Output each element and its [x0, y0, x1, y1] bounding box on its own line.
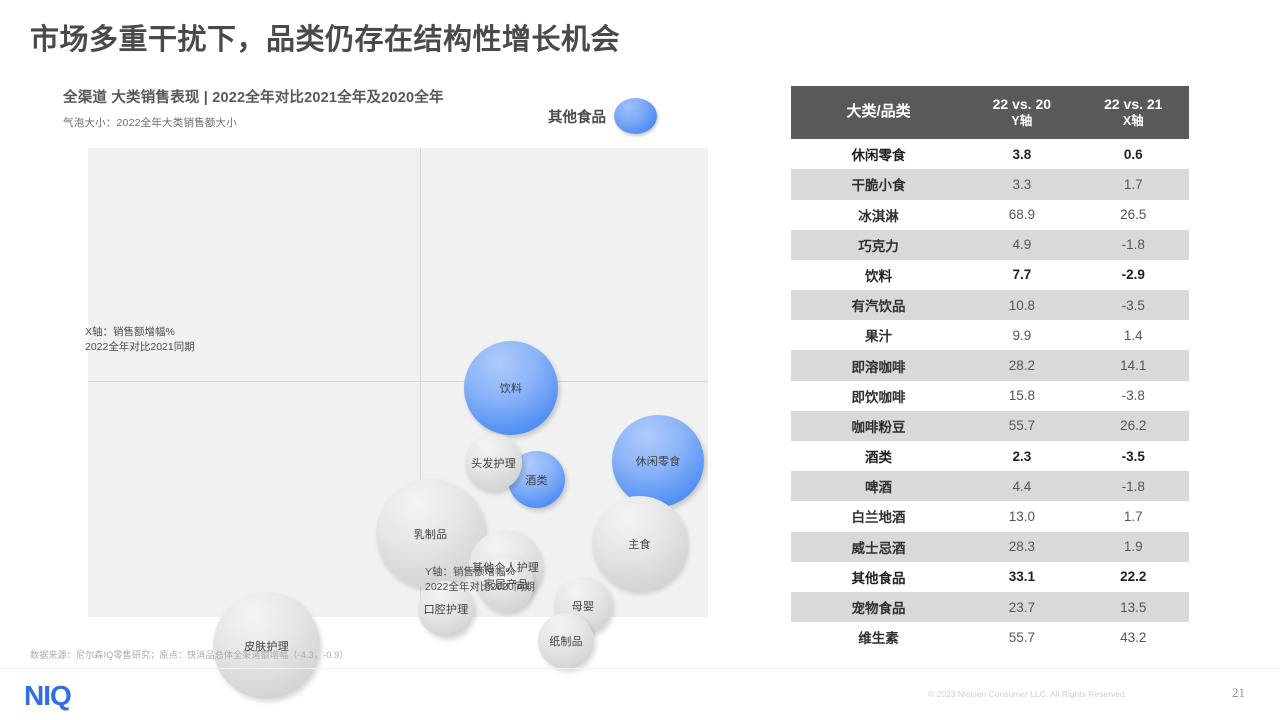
bubble-label: 母婴 [572, 598, 594, 614]
table-row[interactable]: 果汁9.91.4 [791, 320, 1189, 350]
legend-bubble-icon [614, 98, 657, 134]
cell-22vs21: 26.5 [1078, 200, 1189, 230]
cell-22vs20: 3.3 [966, 169, 1077, 199]
cell-category-name: 酒类 [791, 441, 966, 471]
x-axis-note-line2: 2022全年对比2021同期 [85, 340, 195, 355]
chart-footnote: 数据来源：尼尔森IQ零售研究；原点：快消品总体全渠道额增幅（-4.3，-0.9） [30, 648, 349, 661]
cell-category-name: 有汽饮品 [791, 290, 966, 320]
table-row[interactable]: 咖啡粉豆55.726.2 [791, 411, 1189, 441]
table-row[interactable]: 冰淇淋68.926.5 [791, 200, 1189, 230]
table-row[interactable]: 休闲零食3.80.6 [791, 139, 1189, 169]
legend-label: 其他食品 [548, 106, 606, 127]
page-number: 21 [1232, 685, 1245, 701]
cell-22vs20: 28.3 [966, 532, 1077, 562]
cell-22vs21: 0.6 [1078, 139, 1189, 169]
cell-22vs20: 23.7 [966, 592, 1077, 622]
col-header-22vs20-main: 22 vs. 20 [993, 96, 1051, 112]
bubble-纸制品[interactable]: 纸制品 [538, 613, 594, 669]
cell-22vs20: 2.3 [966, 441, 1077, 471]
footer-divider [0, 668, 1280, 669]
bubble-皮肤护理[interactable]: 皮肤护理 [213, 592, 320, 699]
cell-22vs20: 68.9 [966, 200, 1077, 230]
table-row[interactable]: 威士忌酒28.31.9 [791, 532, 1189, 562]
cell-22vs21: -2.9 [1078, 260, 1189, 290]
table-row[interactable]: 酒类2.3-3.5 [791, 441, 1189, 471]
bubble-label: 头发护理 [471, 455, 516, 471]
cell-category-name: 白兰地酒 [791, 501, 966, 531]
cell-category-name: 啤酒 [791, 471, 966, 501]
bubble-label: 其他个人护理 [472, 559, 539, 575]
bubble-饮料[interactable]: 饮料 [464, 341, 558, 435]
cell-22vs21: -1.8 [1078, 230, 1189, 260]
x-axis-note-line1: X轴：销售额增幅% [85, 325, 195, 340]
bubble-label: 主食 [628, 536, 650, 552]
cell-22vs20: 4.4 [966, 471, 1077, 501]
col-header-22vs21: 22 vs. 21 X轴 [1078, 86, 1189, 139]
cell-22vs20: 9.9 [966, 320, 1077, 350]
page-title: 市场多重干扰下，品类仍存在结构性增长机会 [30, 16, 620, 58]
cell-category-name: 即溶咖啡 [791, 350, 966, 380]
copyright-text: © 2023 Nielsen Consumer LLC. All Rights … [928, 689, 1127, 699]
category-table: 大类/品类 22 vs. 20 Y轴 22 vs. 21 X轴 休闲零食3.80… [791, 86, 1189, 652]
col-header-22vs21-main: 22 vs. 21 [1104, 96, 1162, 112]
bubble-chart-plot: 饮料休闲零食酒类头发护理乳制品其他个人护理家居产品口腔护理主食母婴纸制品皮肤护理 [88, 148, 708, 617]
cell-22vs21: 14.1 [1078, 350, 1189, 380]
cell-category-name: 饮料 [791, 260, 966, 290]
cell-22vs21: -1.8 [1078, 471, 1189, 501]
cell-22vs20: 3.8 [966, 139, 1077, 169]
cell-22vs21: 1.4 [1078, 320, 1189, 350]
table-row[interactable]: 即饮咖啡15.8-3.8 [791, 381, 1189, 411]
chart-legend: 其他食品 [548, 98, 657, 134]
table-row[interactable]: 干脆小食3.31.7 [791, 169, 1189, 199]
col-header-22vs20: 22 vs. 20 Y轴 [966, 86, 1077, 139]
table-row[interactable]: 巧克力4.9-1.8 [791, 230, 1189, 260]
table-row[interactable]: 即溶咖啡28.214.1 [791, 350, 1189, 380]
col-header-category: 大类/品类 [791, 86, 966, 139]
slide: 市场多重干扰下，品类仍存在结构性增长机会 全渠道 大类销售表现 | 2022全年… [0, 0, 1280, 720]
cell-22vs20: 10.8 [966, 290, 1077, 320]
cell-category-name: 维生素 [791, 622, 966, 652]
cell-22vs21: 1.9 [1078, 532, 1189, 562]
cell-category-name: 威士忌酒 [791, 532, 966, 562]
cell-22vs20: 15.8 [966, 381, 1077, 411]
cell-22vs21: 26.2 [1078, 411, 1189, 441]
table-row[interactable]: 啤酒4.4-1.8 [791, 471, 1189, 501]
cell-22vs21: 43.2 [1078, 622, 1189, 652]
cell-category-name: 干脆小食 [791, 169, 966, 199]
bubble-label: 酒类 [525, 472, 547, 488]
col-header-22vs20-sub: Y轴 [970, 114, 1073, 130]
cell-category-name: 冰淇淋 [791, 200, 966, 230]
table-row[interactable]: 有汽饮品10.8-3.5 [791, 290, 1189, 320]
cell-22vs20: 4.9 [966, 230, 1077, 260]
cell-category-name: 其他食品 [791, 562, 966, 592]
cell-category-name: 休闲零食 [791, 139, 966, 169]
bubble-label: 纸制品 [549, 633, 583, 649]
table-row[interactable]: 其他食品33.122.2 [791, 562, 1189, 592]
bubble-label: 饮料 [500, 380, 522, 396]
cell-22vs20: 33.1 [966, 562, 1077, 592]
bubble-label: 乳制品 [414, 526, 448, 542]
cell-22vs20: 28.2 [966, 350, 1077, 380]
table-row[interactable]: 饮料7.7-2.9 [791, 260, 1189, 290]
cell-22vs21: 22.2 [1078, 562, 1189, 592]
bubble-主食[interactable]: 主食 [592, 496, 687, 591]
x-axis-note: X轴：销售额增幅% 2022全年对比2021同期 [85, 325, 195, 355]
cell-22vs21: 1.7 [1078, 169, 1189, 199]
cell-22vs21: 1.7 [1078, 501, 1189, 531]
data-table: 大类/品类 22 vs. 20 Y轴 22 vs. 21 X轴 休闲零食3.80… [791, 86, 1189, 652]
cell-22vs21: -3.5 [1078, 441, 1189, 471]
table-body: 休闲零食3.80.6干脆小食3.31.7冰淇淋68.926.5巧克力4.9-1.… [791, 139, 1189, 652]
cell-22vs21: 13.5 [1078, 592, 1189, 622]
cell-22vs20: 13.0 [966, 501, 1077, 531]
bubble-label: 家居产品 [484, 576, 529, 592]
cell-22vs20: 55.7 [966, 411, 1077, 441]
cell-category-name: 咖啡粉豆 [791, 411, 966, 441]
bubble-label: 休闲零食 [636, 453, 681, 469]
quadrant-line-horizontal [88, 381, 708, 382]
col-header-22vs21-sub: X轴 [1082, 114, 1185, 130]
table-header-row: 大类/品类 22 vs. 20 Y轴 22 vs. 21 X轴 [791, 86, 1189, 139]
table-row[interactable]: 维生素55.743.2 [791, 622, 1189, 652]
cell-category-name: 果汁 [791, 320, 966, 350]
cell-22vs20: 7.7 [966, 260, 1077, 290]
table-head: 大类/品类 22 vs. 20 Y轴 22 vs. 21 X轴 [791, 86, 1189, 139]
table-row[interactable]: 宠物食品23.713.5 [791, 592, 1189, 622]
bubble-休闲零食[interactable]: 休闲零食 [612, 415, 704, 507]
table-row[interactable]: 白兰地酒13.01.7 [791, 501, 1189, 531]
cell-22vs21: -3.5 [1078, 290, 1189, 320]
cell-22vs21: -3.8 [1078, 381, 1189, 411]
niq-logo: NIQ [24, 680, 71, 712]
bubble-label: 口腔护理 [424, 601, 469, 617]
bubble-头发护理[interactable]: 头发护理 [465, 434, 522, 491]
cell-22vs20: 55.7 [966, 622, 1077, 652]
cell-category-name: 即饮咖啡 [791, 381, 966, 411]
bubble-label: 皮肤护理 [244, 638, 289, 654]
cell-category-name: 宠物食品 [791, 592, 966, 622]
cell-category-name: 巧克力 [791, 230, 966, 260]
